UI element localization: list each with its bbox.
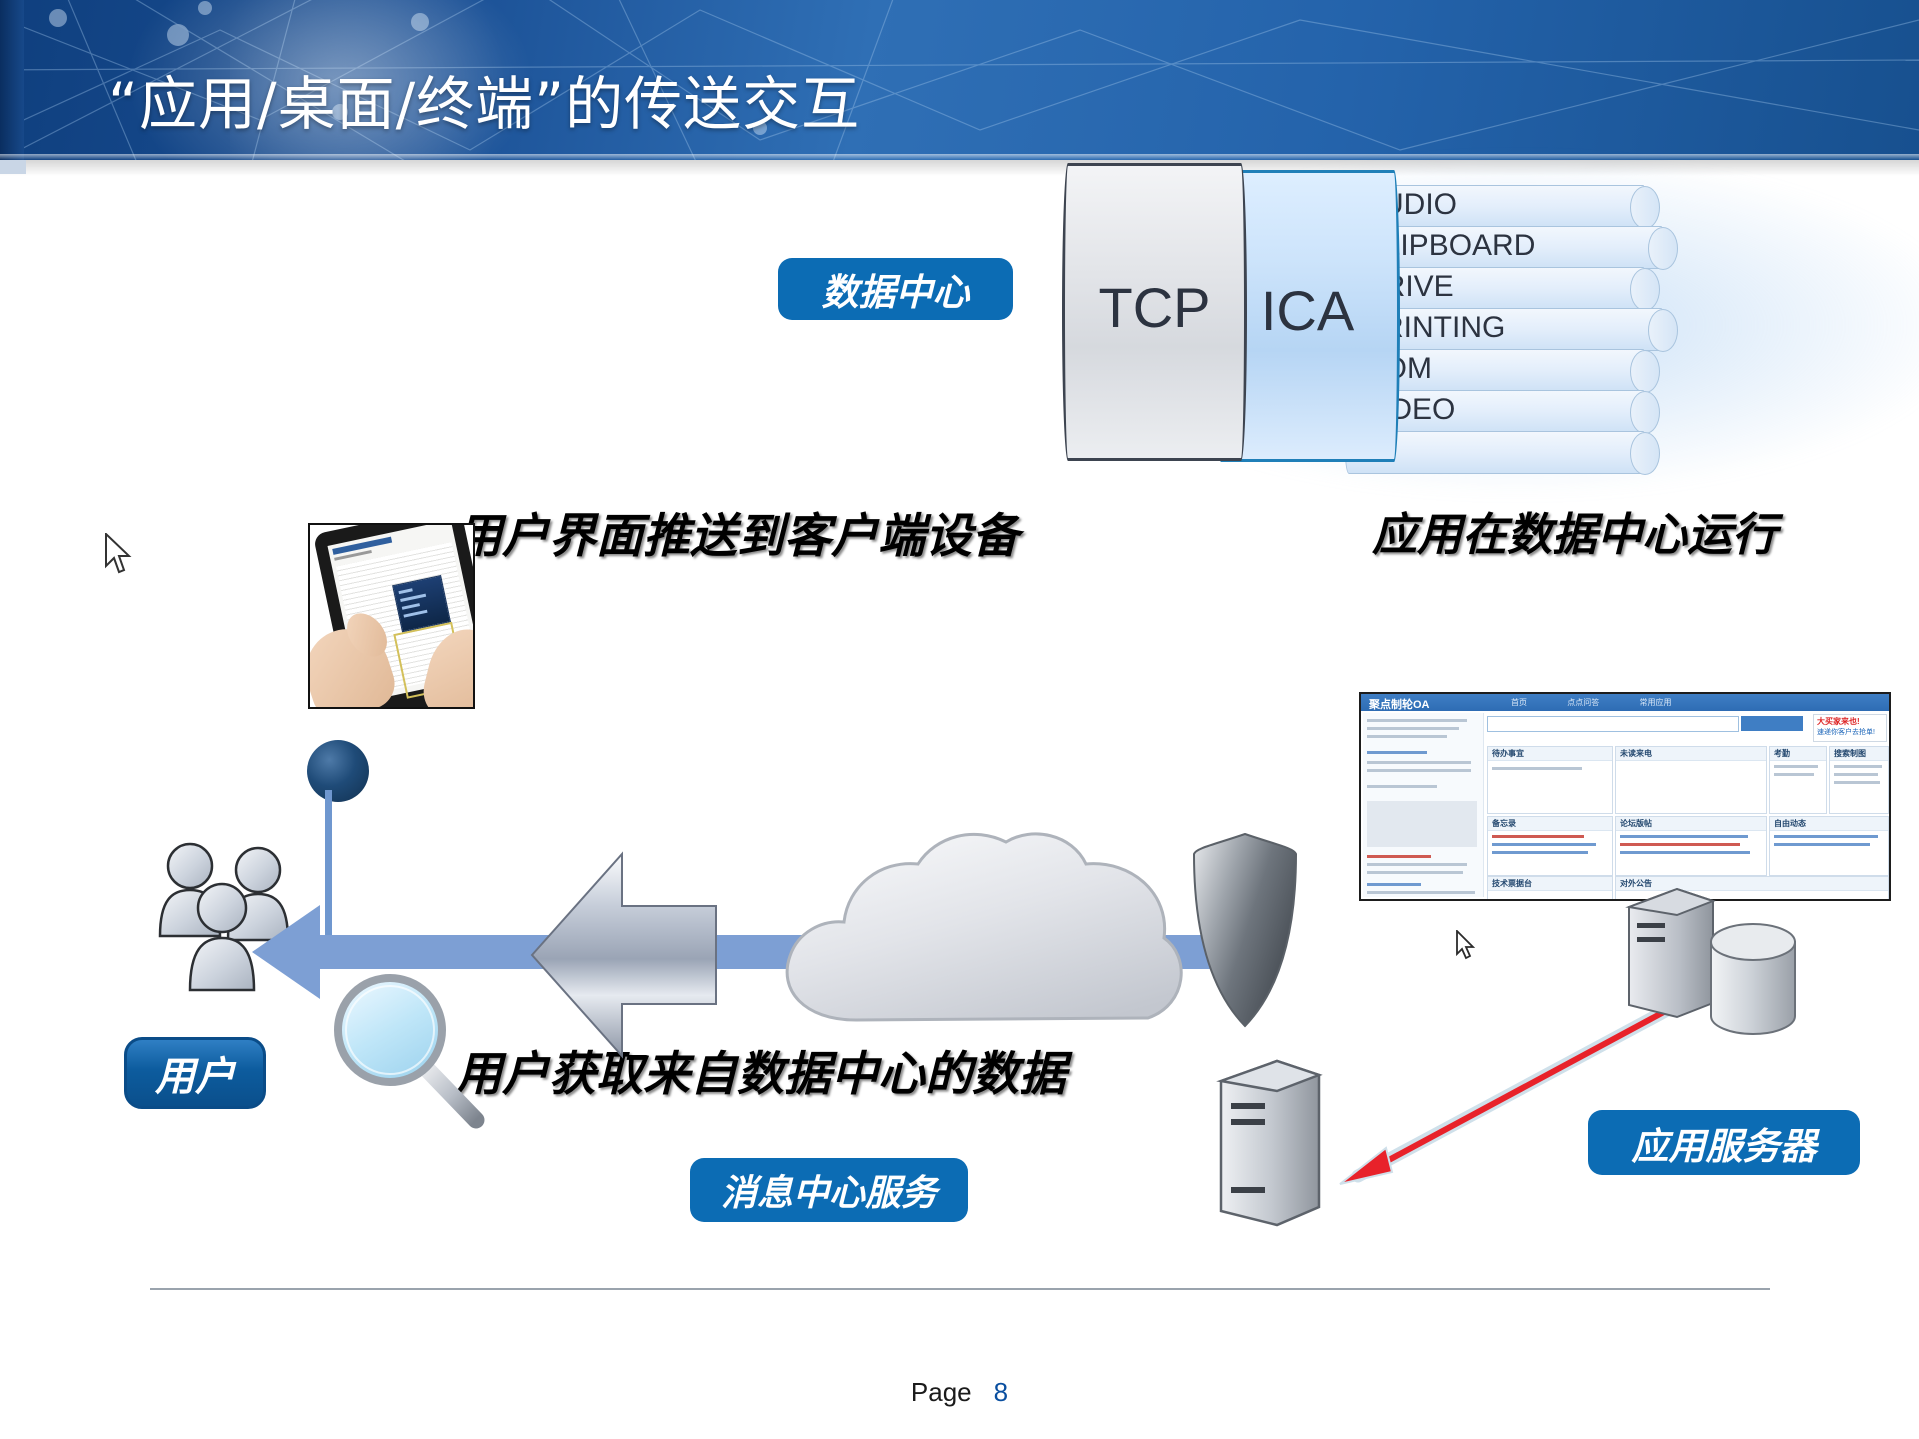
footer-divider	[150, 1288, 1770, 1290]
oa-promo-line1: 大买家来也!	[1817, 716, 1860, 727]
oa-panel-title: 未读来电	[1620, 748, 1652, 759]
caption-ui-push: 用户界面推送到客户端设备	[455, 497, 1019, 566]
download-arrow-shaft	[325, 790, 332, 950]
channel-end-cap	[1648, 227, 1678, 270]
oa-mouse-cursor-icon	[1455, 930, 1477, 960]
page-number: Page8	[0, 1377, 1919, 1408]
oa-panel-title: 备忘录	[1492, 818, 1516, 829]
oa-panel-todo: 待办事宜	[1487, 746, 1613, 814]
channel-end-cap	[1630, 432, 1660, 475]
oa-panel-dynamics: 自由动态	[1769, 816, 1889, 876]
label-data-center: 数据中心	[778, 258, 1013, 320]
label-user: 用户	[124, 1037, 266, 1109]
mouse-cursor-icon	[104, 533, 134, 577]
virtual-channel-stack: AUDIO CLIPBOARD DRIVE PRINTING COM VIDEO	[1345, 185, 1845, 455]
channel-end-cap	[1630, 391, 1660, 434]
oa-panel-title: 自由动态	[1774, 818, 1806, 829]
database-cylinder-icon	[1705, 920, 1801, 1038]
tcp-tube: TCP	[1062, 163, 1247, 461]
oa-tab-home: 首页	[1511, 698, 1527, 707]
oa-brand: 聚点制轮OA	[1369, 696, 1430, 712]
application-server-icon	[1625, 885, 1717, 1020]
slide-header: “应用/桌面/终端”的传送交互	[0, 0, 1919, 160]
oa-panel-memo: 备忘录	[1487, 816, 1613, 876]
oa-tab-apps: 常用应用	[1639, 698, 1671, 707]
channel-end-cap	[1630, 350, 1660, 393]
magnifier-search-icon	[330, 970, 490, 1130]
oa-panel-forum: 论坛版帖	[1615, 816, 1767, 876]
channel-end-cap	[1648, 309, 1678, 352]
label-text: 用户	[155, 1044, 235, 1102]
oa-tabs: 首页 点点问答 常用应用	[1511, 697, 1709, 708]
label-message-center-service: 消息中心服务	[690, 1158, 968, 1222]
page-number-value: 8	[994, 1377, 1008, 1407]
channel-end-cap	[1630, 186, 1660, 229]
oa-promo-line2: 速递你客户去抢单!	[1817, 727, 1875, 737]
left-edge-stub	[0, 160, 26, 174]
page-label: Page	[911, 1377, 972, 1407]
oa-search-button[interactable]	[1741, 716, 1803, 731]
oa-panel-search: 搜索制图	[1829, 746, 1889, 814]
oa-panel-title: 考勤	[1774, 748, 1790, 759]
oa-panel-unread: 未读来电	[1615, 746, 1767, 814]
oa-panel-title: 搜索制图	[1834, 748, 1866, 759]
oa-panel-title: 待办事宜	[1492, 748, 1524, 759]
oa-panel-title: 论坛版帖	[1620, 818, 1652, 829]
security-shield-icon	[1190, 830, 1300, 1030]
delivery-arrow-icon	[530, 840, 720, 1070]
tablet-device-photo	[308, 523, 475, 709]
message-center-server-icon	[1215, 1055, 1325, 1230]
tcp-label: TCP	[1062, 275, 1247, 340]
oa-tab-qa: 点点问答	[1567, 698, 1599, 707]
oa-panel-title: 技术票据台	[1492, 878, 1532, 889]
label-text: 数据中心	[822, 262, 970, 316]
network-cloud-icon	[760, 820, 1200, 1060]
header-left-edge	[0, 0, 24, 160]
caption-app-runs-in-datacenter: 应用在数据中心运行	[1372, 498, 1777, 563]
oa-panel-tech: 技术票据台	[1487, 876, 1613, 900]
connection-node-dot	[307, 740, 369, 802]
oa-promo-banner: 大买家来也! 速递你客户去抢单!	[1813, 714, 1887, 742]
oa-system-screenshot: 聚点制轮OA 首页 点点问答 常用应用 大买家来也! 速递你客户去抢单! 待办事…	[1359, 692, 1891, 901]
data-flow-arrow-head	[252, 905, 320, 999]
label-text: 消息中心服务	[721, 1164, 937, 1216]
oa-panel-attendance: 考勤	[1769, 746, 1827, 814]
page-title: “应用/桌面/终端”的传送交互	[108, 57, 860, 141]
oa-left-column	[1363, 713, 1484, 897]
channel-end-cap	[1630, 268, 1660, 311]
oa-search-input[interactable]	[1487, 716, 1739, 732]
